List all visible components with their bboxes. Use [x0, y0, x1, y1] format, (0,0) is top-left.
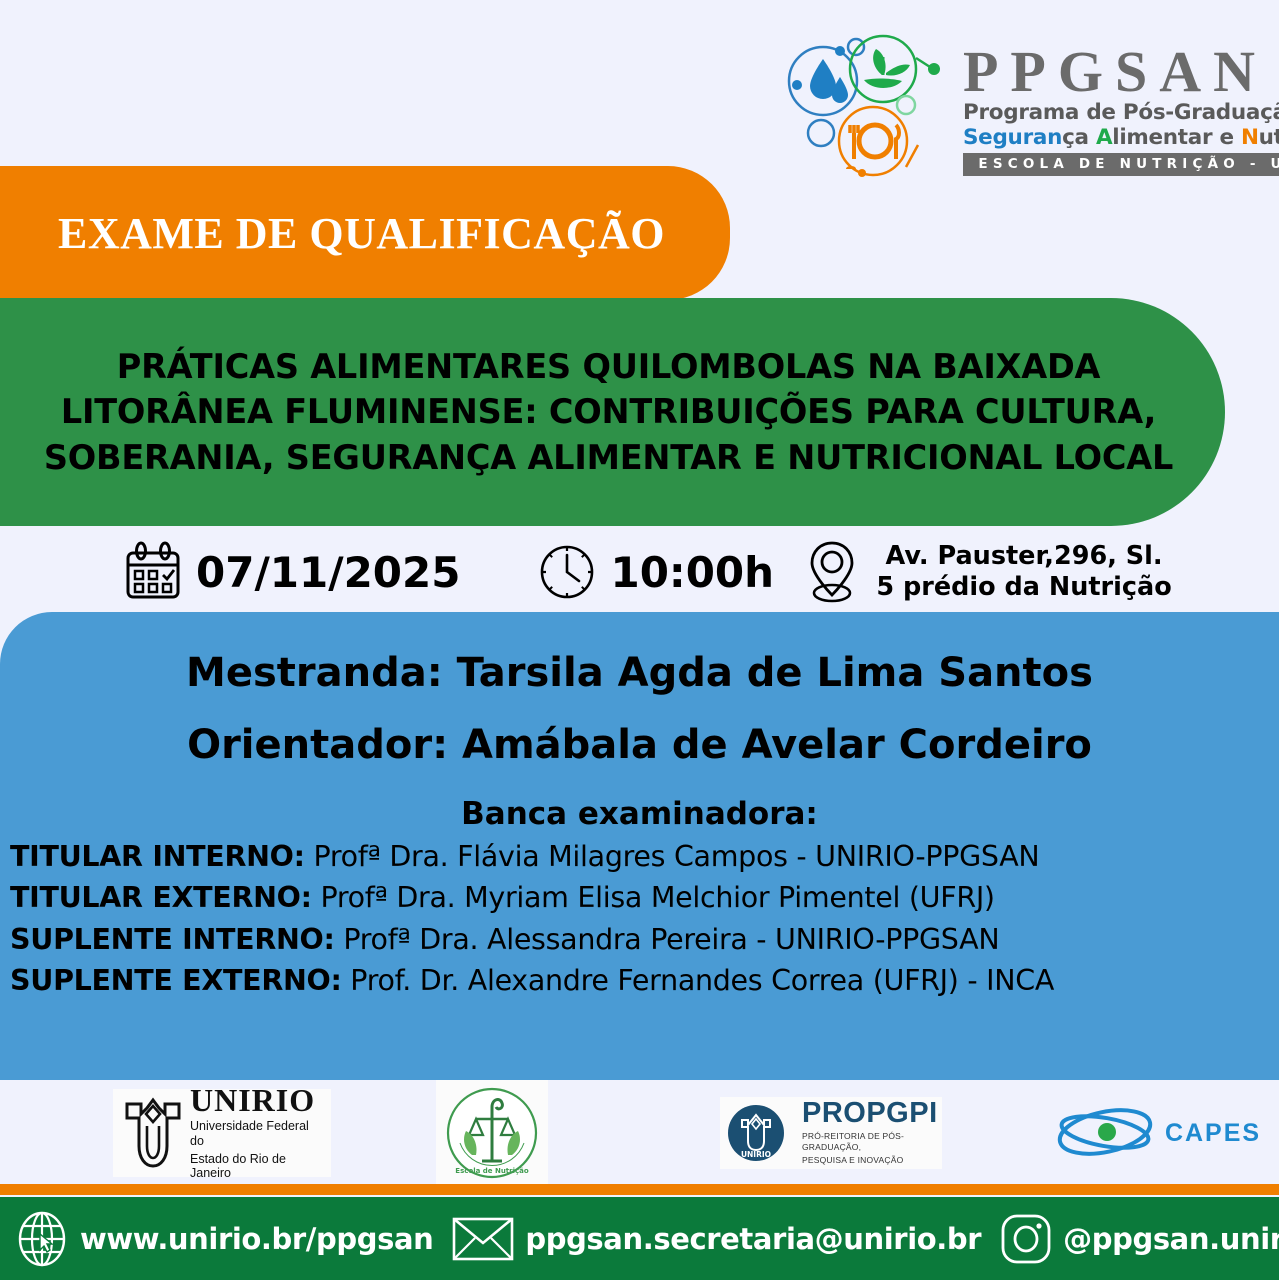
poster-root: PPGSAN Programa de Pós-Graduação em Segu… [0, 0, 1279, 1280]
escola-nutricao-seal-icon: Escola de Nutrição [442, 1083, 542, 1183]
unirio-text: UNIRIO Universidade Federal do Estado do… [190, 1084, 323, 1181]
tagline-utricional: utricional [1259, 125, 1279, 150]
student-line: Mestranda: Tarsila Agda de Lima Santos [0, 650, 1279, 696]
ppgsan-tagline-line1: Programa de Pós-Graduação em [963, 101, 1279, 125]
contact-footer: www.unirio.br/ppgsan ppgsan.secretaria@u… [0, 1197, 1279, 1280]
ppgsan-logo: PPGSAN Programa de Pós-Graduação em Segu… [778, 28, 1268, 188]
propgpi-badge-label: UNIRIO [741, 1150, 771, 1159]
envelope-icon [451, 1214, 515, 1264]
event-time-value: 10:00h [610, 548, 774, 597]
board-person: Prof. Dr. Alexandre Fernandes Correa (UF… [342, 964, 1054, 997]
tagline-a: A [1096, 125, 1112, 150]
propgpi-subtitle-line2: PESQUISA E INOVAÇÃO [802, 1155, 938, 1166]
event-location: Av. Pauster,296, Sl. 5 prédio da Nutriçã… [802, 537, 1174, 607]
tagline-seguran: Seguran [963, 125, 1062, 150]
capes-symbol-icon [1045, 1102, 1165, 1164]
ppgsan-acronym: PPGSAN [963, 44, 1279, 99]
board-role: TITULAR INTERNO: [10, 840, 305, 873]
propgpi-unirio-badge-icon: UNIRIO [726, 1103, 786, 1163]
event-info-strip: 07/11/2025 10:00h Av. Pau [0, 527, 1279, 617]
board-role: SUPLENTE EXTERNO: [10, 964, 342, 997]
footer-instagram[interactable]: @ppgsan.unirio [999, 1212, 1279, 1266]
event-date-value: 07/11/2025 [196, 548, 460, 597]
unirio-name: UNIRIO [190, 1082, 315, 1118]
location-pin-icon [802, 537, 862, 607]
propgpi-subtitle-line1: PRÓ-REITORIA DE PÓS-GRADUAÇÃO, [802, 1131, 938, 1152]
board-row: SUPLENTE INTERNO: Profª Dra. Alessandra … [10, 919, 1279, 960]
propgpi-logo: UNIRIO PROPGPI PRÓ-REITORIA DE PÓS-GRADU… [720, 1097, 942, 1169]
thesis-title: PRÁTICAS ALIMENTARES QUILOMBOLAS NA BAIX… [19, 344, 1199, 481]
board-role: TITULAR EXTERNO: [10, 881, 312, 914]
globe-icon [14, 1210, 70, 1268]
partner-logos: UNIRIO Universidade Federal do Estado do… [0, 1080, 1279, 1185]
unirio-subtitle-line1: Universidade Federal do [190, 1119, 323, 1149]
capes-logo: CAPES [1088, 1087, 1218, 1179]
unirio-logo: UNIRIO Universidade Federal do Estado do… [113, 1089, 331, 1177]
board-row: TITULAR EXTERNO: Profª Dra. Myriam Elisa… [10, 877, 1279, 918]
footer-email-text: ppgsan.secretaria@unirio.br [525, 1222, 981, 1256]
tagline-n: N [1241, 125, 1259, 150]
event-location-value: Av. Pauster,296, Sl. 5 prédio da Nutriçã… [874, 541, 1174, 602]
tagline-ca: ça [1062, 125, 1096, 150]
ppgsan-emblem-icon [778, 33, 953, 183]
instagram-icon [999, 1212, 1053, 1266]
capes-name: CAPES [1165, 1119, 1261, 1148]
ppgsan-logo-text: PPGSAN Programa de Pós-Graduação em Segu… [963, 40, 1279, 175]
board-row: SUPLENTE EXTERNO: Prof. Dr. Alexandre Fe… [10, 960, 1279, 1001]
propgpi-name: PROPGPI [802, 1099, 938, 1128]
board-person: Profª Dra. Myriam Elisa Melchior Pimente… [312, 881, 995, 914]
orange-divider [0, 1184, 1279, 1195]
board-role: SUPLENTE INTERNO: [10, 923, 335, 956]
board-row: TITULAR INTERNO: Profª Dra. Flávia Milag… [10, 836, 1279, 877]
board-list: TITULAR INTERNO: Profª Dra. Flávia Milag… [0, 836, 1279, 1001]
board-heading: Banca examinadora: [0, 796, 1279, 832]
clock-icon [536, 541, 598, 603]
board-person: Profª Dra. Flávia Milagres Campos - UNIR… [305, 840, 1040, 873]
board-person: Profª Dra. Alessandra Pereira - UNIRIO-P… [335, 923, 1000, 956]
people-panel: Mestranda: Tarsila Agda de Lima Santos O… [0, 612, 1279, 1080]
escola-seal-caption: Escola de Nutrição [455, 1167, 529, 1175]
escola-nutricao-logo: Escola de Nutrição [436, 1080, 548, 1185]
footer-website[interactable]: www.unirio.br/ppgsan [14, 1210, 433, 1268]
footer-instagram-text: @ppgsan.unirio [1063, 1222, 1279, 1256]
thesis-title-block: PRÁTICAS ALIMENTARES QUILOMBOLAS NA BAIX… [0, 298, 1225, 526]
propgpi-text: PROPGPI PRÓ-REITORIA DE PÓS-GRADUAÇÃO, P… [802, 1099, 938, 1166]
footer-email[interactable]: ppgsan.secretaria@unirio.br [451, 1214, 981, 1264]
unirio-subtitle-line2: Estado do Rio de Janeiro [190, 1152, 323, 1182]
event-date: 07/11/2025 [122, 541, 460, 603]
exam-type-banner: EXAME DE QUALIFICAÇÃO [0, 166, 730, 300]
footer-website-text: www.unirio.br/ppgsan [80, 1222, 433, 1256]
exam-type-label: EXAME DE QUALIFICAÇÃO [58, 208, 665, 259]
ppgsan-school-bar: ESCOLA DE NUTRIÇÃO - UNIRIO [963, 153, 1279, 176]
calendar-icon [122, 541, 184, 603]
tagline-limentar: limentar e [1112, 125, 1241, 150]
advisor-line: Orientador: Amábala de Avelar Cordeiro [0, 722, 1279, 768]
event-time: 10:00h [536, 541, 774, 603]
ppgsan-tagline-line2: Segurança Alimentar e Nutricional [963, 126, 1279, 150]
unirio-symbol-icon [121, 1096, 185, 1170]
